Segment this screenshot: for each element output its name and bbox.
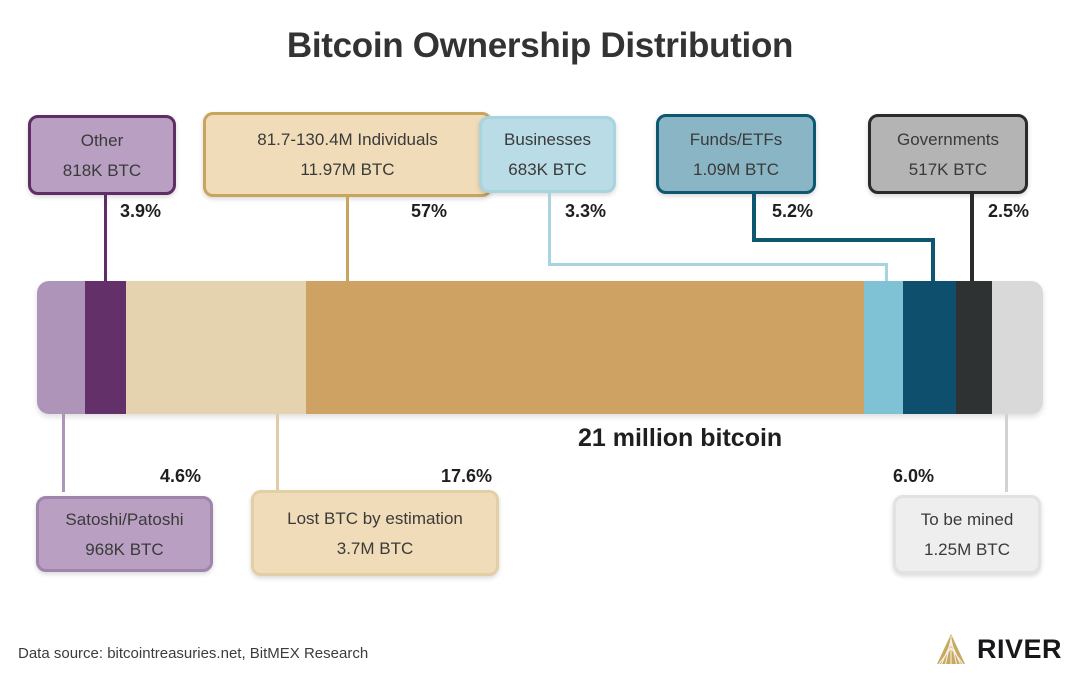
pct-tobemined: 6.0% [893,466,934,487]
bar-segment-satoshi [37,281,85,414]
connector-individuals [346,197,349,285]
callout-other-label: Other [81,130,124,151]
pct-individuals: 57% [411,201,447,222]
bar-segment-lost [126,281,306,414]
callout-funds-amount: 1.09M BTC [693,159,779,180]
connector-businesses-h [548,263,888,266]
page-title: Bitcoin Ownership Distribution [0,26,1080,66]
callout-governments: Governments 517K BTC [868,114,1028,194]
connector-funds-v2 [931,238,935,285]
bar-segment-governments [956,281,992,414]
connector-lost [276,414,279,492]
connector-funds-v1 [752,194,756,240]
callout-individuals: 81.7-130.4M Individuals 11.97M BTC [203,112,492,197]
bar-segment-businesses [864,281,903,414]
pct-other: 3.9% [120,201,161,222]
callout-individuals-label: 81.7-130.4M Individuals [257,129,438,150]
callout-funds: Funds/ETFs 1.09M BTC [656,114,816,194]
data-source-text: Data source: bitcointreasuries.net, BitM… [18,645,368,662]
connector-other [104,195,107,285]
river-wordmark: RIVER [977,634,1062,665]
callout-funds-label: Funds/ETFs [690,129,783,150]
callout-individuals-amount: 11.97M BTC [300,159,394,180]
pct-lost: 17.6% [441,466,492,487]
callout-satoshi-amount: 968K BTC [85,539,163,560]
pct-satoshi: 4.6% [160,466,201,487]
bar-segment-individuals [306,281,864,414]
callout-lost-amount: 3.7M BTC [337,538,414,559]
connector-tobemined [1005,414,1008,492]
callout-tobemined: To be mined 1.25M BTC [893,495,1041,574]
pct-funds: 5.2% [772,201,813,222]
stacked-bar [37,281,1043,414]
callout-businesses-amount: 683K BTC [508,159,586,180]
callout-lost: Lost BTC by estimation 3.7M BTC [251,490,499,576]
callout-lost-label: Lost BTC by estimation [287,508,463,529]
bar-segment-other [85,281,126,414]
callout-businesses-label: Businesses [504,129,591,150]
bar-segment-tobemined [992,281,1043,414]
callout-governments-label: Governments [897,129,999,150]
pct-businesses: 3.3% [565,201,606,222]
callout-satoshi: Satoshi/Patoshi 968K BTC [36,496,213,572]
connector-satoshi [62,414,65,492]
pct-governments: 2.5% [988,201,1029,222]
connector-funds-h [752,238,935,242]
river-logo: RIVER [934,632,1062,666]
bar-segment-funds [903,281,956,414]
callout-satoshi-label: Satoshi/Patoshi [65,509,183,530]
callout-tobemined-label: To be mined [921,509,1014,530]
callout-tobemined-amount: 1.25M BTC [924,539,1010,560]
callout-governments-amount: 517K BTC [909,159,987,180]
connector-businesses-v1 [548,193,551,266]
infographic-root: Bitcoin Ownership Distribution Other 818… [0,0,1080,679]
connector-governments [970,194,974,285]
callout-other: Other 818K BTC [28,115,176,195]
bar-total-label: 21 million bitcoin [578,424,782,453]
callout-other-amount: 818K BTC [63,160,141,181]
callout-businesses: Businesses 683K BTC [479,116,616,193]
river-delta-logo-icon [934,632,968,666]
